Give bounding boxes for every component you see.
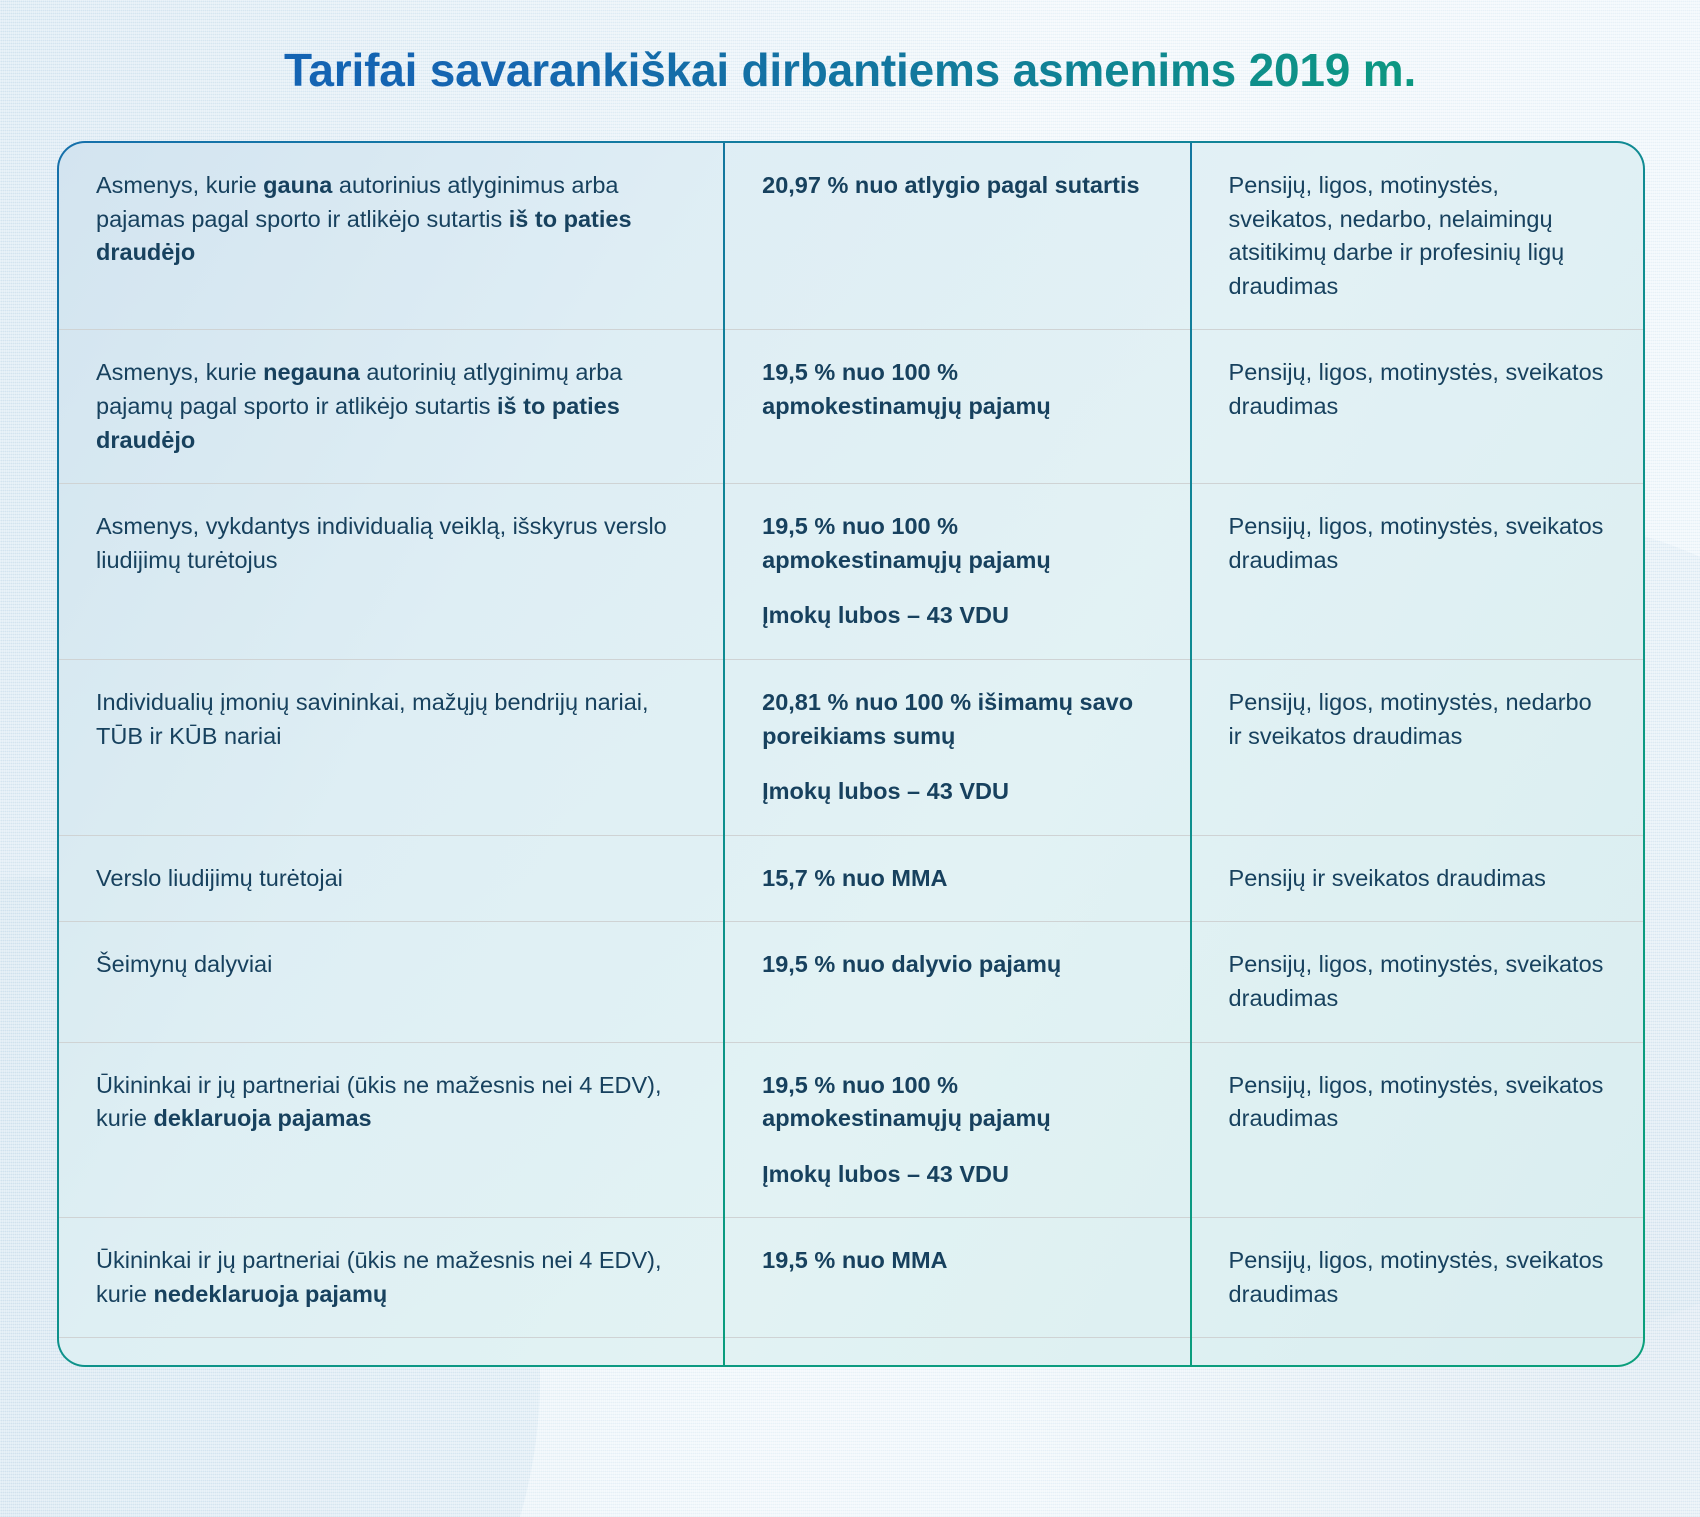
table-row: Ūkininkai ir jų partneriai (ūkis ne maže… [59,1218,1643,1338]
cell-category: Individualių įmonių savininkai, mažųjų b… [59,660,722,779]
table-row: Ūkininkai ir jų partneriai (ūkis ne maže… [59,1043,1643,1219]
cell-insurance: Pensijų, ligos, motinystės, nedarbo ir s… [1189,660,1643,779]
rates-table: Asmenys, kurie gauna autorinius atlygini… [57,141,1645,1367]
cell-insurance: Pensijų, ligos, motinystės, sveikatos dr… [1189,484,1643,603]
cell-rate: 20,97 % nuo atlygio pagal sutartis [722,143,1188,229]
category-text-emphasis: negauna [263,359,360,385]
rate-primary: 19,5 % nuo MMA [762,1244,1152,1278]
cell-rate: 15,7 % nuo MMA [722,836,1188,922]
rate-primary: 19,5 % nuo 100 % apmokestinamųjų pajamų [762,510,1152,577]
cell-insurance: Pensijų ir sveikatos draudimas [1189,836,1643,922]
cell-insurance: Pensijų, ligos, motinystės, sveikatos, n… [1189,143,1643,329]
cell-rate: 19,5 % nuo 100 % apmokestinamųjų pajamų … [722,484,1188,659]
rate-primary: 15,7 % nuo MMA [762,862,1152,896]
cell-rate: 19,5 % nuo MMA [722,1218,1188,1304]
rate-cap: Įmokų lubos – 43 VDU [762,599,1152,633]
table-row: Asmenys, vykdantys individualią veiklą, … [59,484,1643,660]
cell-rate: 19,5 % nuo 100 % apmokestinamųjų pajamų [722,330,1188,449]
cell-insurance: Sveikatos draudimas [1189,1338,1643,1365]
table-row: Asmenys, kurie gauna autorinius atlygini… [59,143,1643,330]
cell-insurance: Pensijų, ligos, motinystės, sveikatos dr… [1189,330,1643,449]
category-text-emphasis: nedeklaruoja pajamų [153,1281,387,1307]
rate-primary: 20,97 % nuo atlygio pagal sutartis [762,169,1152,203]
cell-rate: 20,81 % nuo 100 % išimamų savo poreikiam… [722,660,1188,835]
category-text-part: Asmenys, kurie [96,359,263,385]
cell-rate: 2,33 % nuo MMA [722,1338,1188,1365]
rate-primary: 19,5 % nuo dalyvio pajamų [762,948,1152,982]
category-text-emphasis: gauna [263,172,332,198]
cell-category: Verslo liudijimų turėtojai [59,836,722,922]
rate-cap: Įmokų lubos – 43 VDU [762,775,1152,809]
table-row: Individualių įmonių savininkai, mažųjų b… [59,660,1643,836]
cell-insurance: Pensijų, ligos, motinystės, sveikatos dr… [1189,1043,1643,1162]
table-row: Šeimynų dalyviai 19,5 % nuo dalyvio paja… [59,922,1643,1042]
cell-category: Asmenys, kurie negauna autorinių atlygin… [59,330,722,483]
page-title: Tarifai savarankiškai dirbantiems asmeni… [0,43,1700,97]
category-text-emphasis: deklaruoja pajamas [153,1105,371,1131]
table-row: Verslo liudijimų turėtojai 15,7 % nuo MM… [59,836,1643,923]
cell-category: Asmenys, kurie gauna autorinius atlygini… [59,143,722,296]
rate-primary: 19,5 % nuo 100 % apmokestinamųjų pajamų [762,1069,1152,1136]
table-row: Asmenys, kurie negauna autorinių atlygin… [59,330,1643,484]
rate-cap: Įmokų lubos – 43 VDU [762,1158,1152,1192]
table-row: Ūkininkai ir jų partneriai (kurių ūkis n… [59,1338,1643,1365]
cell-rate: 19,5 % nuo 100 % apmokestinamųjų pajamų … [722,1043,1188,1218]
cell-category: Ūkininkai ir jų partneriai (ūkis ne maže… [59,1218,722,1337]
cell-insurance: Pensijų, ligos, motinystės, sveikatos dr… [1189,922,1643,1041]
rate-primary: 20,81 % nuo 100 % išimamų savo poreikiam… [762,686,1152,753]
cell-category: Šeimynų dalyviai [59,922,722,1008]
cell-insurance: Pensijų, ligos, motinystės, sveikatos dr… [1189,1218,1643,1337]
rates-table-body: Asmenys, kurie gauna autorinius atlygini… [59,143,1643,1365]
cell-rate: 19,5 % nuo dalyvio pajamų [722,922,1188,1008]
cell-category: Ūkininkai ir jų partneriai (ūkis ne maže… [59,1043,722,1162]
rate-primary: 19,5 % nuo 100 % apmokestinamųjų pajamų [762,356,1152,423]
cell-category: Asmenys, vykdantys individualią veiklą, … [59,484,722,603]
rate-primary: 2,33 % nuo MMA [762,1364,1152,1365]
category-text-part: Asmenys, kurie [96,172,263,198]
cell-category: Ūkininkai ir jų partneriai (kurių ūkis n… [59,1338,722,1365]
